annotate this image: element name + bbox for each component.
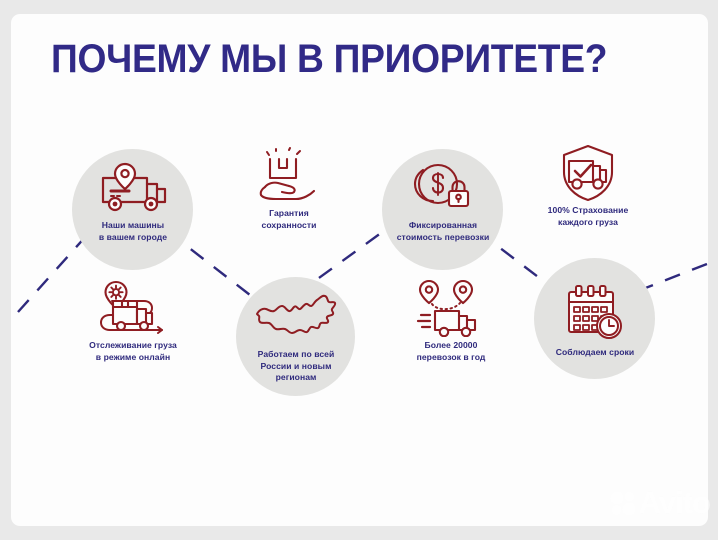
feature-fixed-price[interactable]: Фиксированная стоимость перевозки — [363, 160, 523, 243]
feature-label: Соблюдаем сроки — [556, 347, 635, 359]
infographic-card: ПОЧЕМУ МЫ В ПРИОРИТЕТЕ? — [11, 14, 708, 526]
feature-label: Гарантия сохранности — [262, 208, 317, 231]
truck-location-pin-icon — [95, 160, 171, 216]
truck-two-pins-route-icon — [413, 280, 489, 336]
shield-truck-check-icon — [556, 145, 620, 201]
truck-gear-pin-route-icon — [96, 280, 170, 336]
feature-own-trucks[interactable]: Наши машины в вашем городе — [53, 160, 213, 243]
page-title: ПОЧЕМУ МЫ В ПРИОРИТЕТЕ? — [51, 36, 628, 82]
feature-all-russia[interactable]: Работаем по всей России и новым регионам — [216, 289, 376, 384]
avito-dots-icon — [610, 490, 636, 516]
feature-online-tracking[interactable]: Отслеживание груза в режиме онлайн — [53, 280, 213, 363]
calendar-clock-icon — [564, 283, 626, 343]
feature-label: Отслеживание груза в режиме онлайн — [89, 340, 177, 363]
avito-watermark: Avito — [610, 487, 710, 518]
feature-insurance[interactable]: 100% Страхование каждого груза — [508, 145, 668, 228]
dollar-coin-lock-icon — [412, 160, 474, 216]
russia-map-icon — [251, 289, 341, 345]
hand-holding-box-icon — [256, 148, 322, 204]
feature-volume[interactable]: Более 20000 перевозок в год — [371, 280, 531, 363]
feature-deadlines[interactable]: Соблюдаем сроки — [515, 283, 675, 359]
feature-label: Более 20000 перевозок в год — [417, 340, 486, 363]
feature-label: Фиксированная стоимость перевозки — [397, 220, 490, 243]
feature-label: Работаем по всей России и новым регионам — [258, 349, 335, 384]
feature-safety-guarantee[interactable]: Гарантия сохранности — [209, 148, 369, 231]
avito-watermark-text: Avito — [639, 487, 710, 518]
feature-label: Наши машины в вашем городе — [99, 220, 167, 243]
feature-label: 100% Страхование каждого груза — [548, 205, 629, 228]
